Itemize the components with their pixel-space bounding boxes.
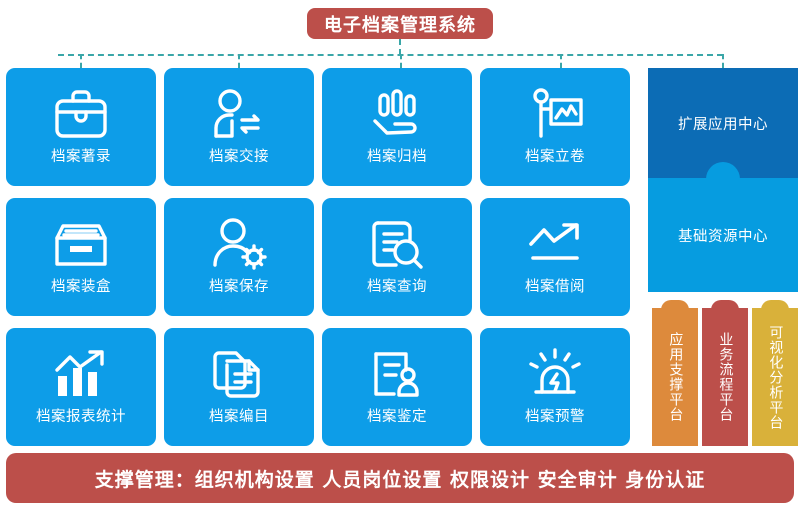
platform-tab-body: 应用支撑平台	[652, 308, 698, 446]
bar-chart-arrow-icon	[51, 342, 111, 406]
card-archive-description[interactable]: 档案著录	[6, 68, 156, 186]
page-title-text: 电子档案管理系统	[324, 11, 476, 37]
platform-tab-business-process[interactable]: 业务流程平台	[702, 308, 748, 446]
platform-tabs: 应用支撑平台 业务流程平台 可视化分析平台	[648, 300, 798, 446]
card-archive-search[interactable]: 档案查询	[322, 198, 472, 316]
stacked-documents-icon	[211, 342, 267, 406]
connector-drop-2	[238, 54, 240, 68]
card-label: 档案预警	[525, 410, 585, 425]
trend-arrow-icon	[525, 212, 585, 276]
panel-extension-center-label: 扩展应用中心	[678, 113, 768, 134]
archive-box-icon	[51, 212, 111, 276]
card-archive-alert[interactable]: 档案预警	[480, 328, 630, 446]
person-exchange-icon	[209, 82, 269, 146]
card-label: 档案借阅	[525, 280, 585, 295]
briefcase-icon	[52, 82, 110, 146]
card-label: 档案鉴定	[367, 410, 427, 425]
module-grid: 档案著录 档案交接 档案归档	[6, 68, 640, 446]
connector-title-vertical	[399, 39, 401, 55]
panel-base-resource-center[interactable]: 基础资源中心	[648, 178, 798, 292]
person-presenting-chart-icon	[524, 82, 586, 146]
card-archive-appraisal[interactable]: 档案鉴定	[322, 328, 472, 446]
card-archive-lending[interactable]: 档案借阅	[480, 198, 630, 316]
card-archive-cataloging[interactable]: 档案编目	[164, 328, 314, 446]
card-label: 档案查询	[367, 280, 427, 295]
card-label: 档案著录	[51, 150, 111, 165]
support-management-text: 支撑管理：组织机构设置 人员岗位设置 权限设计 安全审计 身份认证	[95, 465, 705, 492]
platform-tab-application-support[interactable]: 应用支撑平台	[652, 308, 698, 446]
platform-tab-label: 可视化分析平台	[768, 325, 783, 430]
person-gear-icon	[209, 212, 269, 276]
connector-drop-4	[560, 54, 562, 68]
connector-horizontal	[58, 54, 723, 56]
connector-drop-1	[80, 54, 82, 68]
connector-drop-5	[722, 54, 724, 68]
card-archive-handover[interactable]: 档案交接	[164, 68, 314, 186]
card-archive-preservation[interactable]: 档案保存	[164, 198, 314, 316]
page-title: 电子档案管理系统	[307, 8, 493, 39]
document-person-icon	[368, 342, 426, 406]
card-archive-volume[interactable]: 档案立卷	[480, 68, 630, 186]
alarm-light-icon	[526, 342, 584, 406]
connector-drop-3	[400, 54, 402, 68]
card-archive-boxing[interactable]: 档案装盒	[6, 198, 156, 316]
card-archive-report-statistics[interactable]: 档案报表统计	[6, 328, 156, 446]
card-label: 档案编目	[209, 410, 269, 425]
card-label: 档案装盒	[51, 280, 111, 295]
card-label: 档案归档	[367, 150, 427, 165]
card-label: 档案立卷	[525, 150, 585, 165]
platform-tab-visual-analysis[interactable]: 可视化分析平台	[752, 308, 798, 446]
architecture-diagram: 电子档案管理系统 档案著录	[0, 0, 800, 518]
document-search-icon	[368, 212, 426, 276]
right-panel-group: 扩展应用中心 基础资源中心 应用支撑平台 业务流程平台	[648, 68, 798, 446]
platform-tab-body: 可视化分析平台	[752, 308, 798, 446]
hand-bars-icon	[367, 82, 427, 146]
panel-base-resource-center-label: 基础资源中心	[678, 225, 768, 246]
card-label: 档案报表统计	[36, 410, 126, 425]
card-label: 档案保存	[209, 280, 269, 295]
support-management-bar[interactable]: 支撑管理：组织机构设置 人员岗位设置 权限设计 安全审计 身份认证	[6, 453, 794, 503]
card-label: 档案交接	[209, 150, 269, 165]
platform-tab-label: 应用支撑平台	[668, 332, 683, 422]
card-archive-filing[interactable]: 档案归档	[322, 68, 472, 186]
platform-tab-label: 业务流程平台	[718, 332, 733, 422]
platform-tab-body: 业务流程平台	[702, 308, 748, 446]
